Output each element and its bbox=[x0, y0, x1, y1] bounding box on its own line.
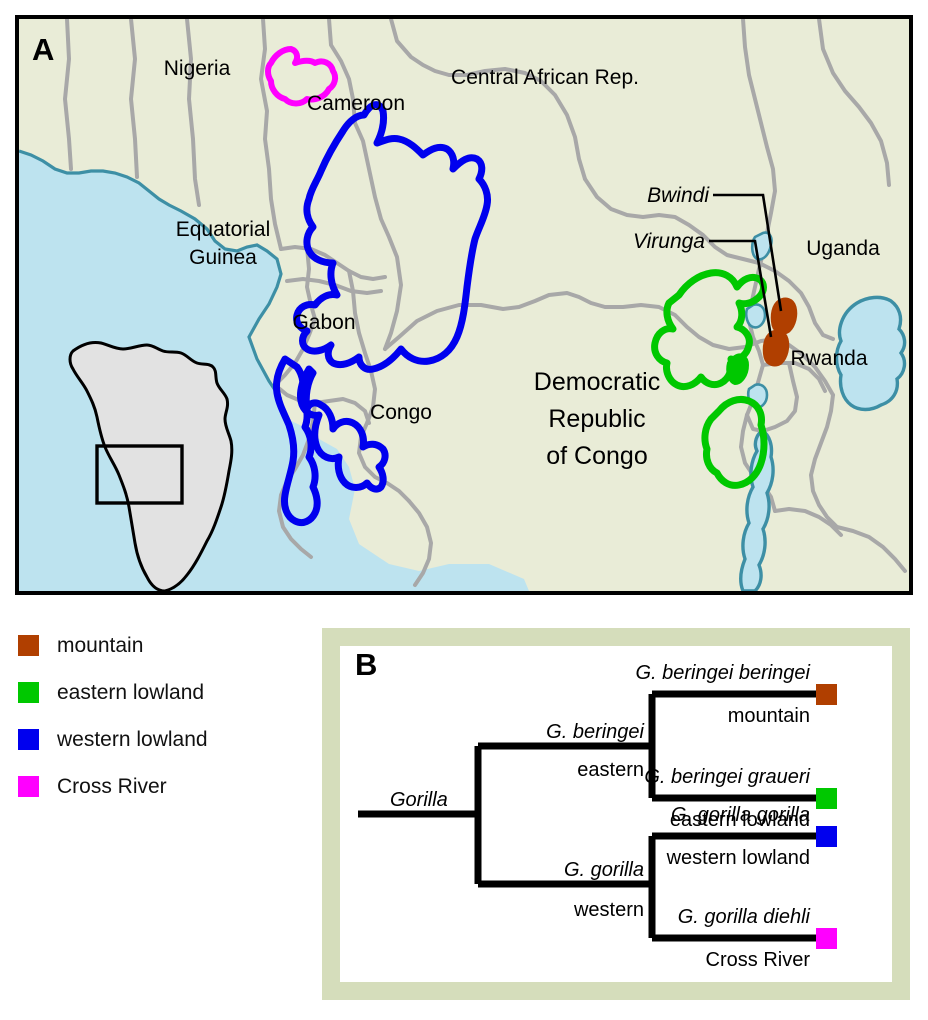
range-legend: mountain eastern lowland western lowland… bbox=[18, 622, 308, 810]
tree-tip-species-gorilla-diehli: G. gorilla diehli bbox=[678, 906, 811, 928]
tree-tip-species-beringei-beringei: G. beringei beringei bbox=[635, 662, 810, 684]
label-cameroon: Cameroon bbox=[307, 92, 405, 115]
label-gabon: Gabon bbox=[292, 311, 355, 334]
label-drc-line1: Democratic bbox=[534, 368, 660, 396]
label-equatorial-guinea-line1: Equatorial bbox=[176, 218, 271, 241]
legend-item-eastern-lowland: eastern lowland bbox=[18, 669, 308, 716]
legend-label-mountain: mountain bbox=[57, 635, 143, 656]
tree-label-g-beringei: G. beringei bbox=[546, 721, 644, 743]
tree-label-eastern: eastern bbox=[577, 759, 644, 781]
tip-swatch-cross-river bbox=[816, 928, 837, 949]
legend-swatch-western-lowland bbox=[18, 729, 39, 750]
map-panel-a: Nigeria Cameroon Central African Rep. Eq… bbox=[15, 15, 913, 595]
label-equatorial-guinea-line2: Guinea bbox=[189, 246, 257, 269]
tree-tip-species-gorilla-gorilla: G. gorilla gorilla bbox=[671, 804, 810, 826]
label-rwanda: Rwanda bbox=[790, 347, 867, 370]
label-drc-line3: of Congo bbox=[546, 442, 647, 470]
label-bwindi: Bwindi bbox=[647, 184, 710, 207]
tree-panel-b: Gorilla G. beringei eastern G. gorilla w… bbox=[322, 628, 910, 1000]
legend-swatch-mountain bbox=[18, 635, 39, 656]
panel-b-letter: B bbox=[355, 647, 377, 683]
tip-swatch-eastern-lowland bbox=[816, 788, 837, 809]
tip-swatch-mountain bbox=[816, 684, 837, 705]
range-eastern-lowland-small bbox=[728, 355, 747, 383]
range-mountain-virunga bbox=[764, 331, 788, 365]
tip-swatch-western-lowland bbox=[816, 826, 837, 847]
lake-edward bbox=[746, 304, 765, 327]
tree-tip-common-western-lowland: western lowland bbox=[666, 847, 810, 869]
tree-tip-common-cross-river: Cross River bbox=[706, 949, 811, 971]
map-svg: Nigeria Cameroon Central African Rep. Eq… bbox=[19, 19, 909, 591]
label-nigeria: Nigeria bbox=[164, 57, 231, 80]
tree-svg: Gorilla G. beringei eastern G. gorilla w… bbox=[340, 646, 892, 982]
legend-item-cross-river: Cross River bbox=[18, 763, 308, 810]
tree-label-g-gorilla: G. gorilla bbox=[564, 859, 644, 881]
tree-label-root: Gorilla bbox=[390, 789, 448, 811]
legend-swatch-cross-river bbox=[18, 776, 39, 797]
legend-label-eastern-lowland: eastern lowland bbox=[57, 682, 204, 703]
legend-item-mountain: mountain bbox=[18, 622, 308, 669]
tree-panel-inner: Gorilla G. beringei eastern G. gorilla w… bbox=[340, 646, 892, 982]
legend-label-western-lowland: western lowland bbox=[57, 729, 208, 750]
label-congo: Congo bbox=[370, 401, 432, 424]
panel-a-letter: A bbox=[32, 32, 54, 68]
range-mountain-bwindi bbox=[772, 299, 796, 333]
label-uganda: Uganda bbox=[806, 237, 880, 260]
label-drc-line2: Republic bbox=[548, 405, 645, 433]
label-car: Central African Rep. bbox=[451, 66, 639, 89]
tree-label-western: western bbox=[573, 899, 644, 921]
tree-tip-species-beringei-graueri: G. beringei graueri bbox=[644, 766, 810, 788]
tree-tip-common-mountain: mountain bbox=[728, 705, 810, 727]
label-virunga: Virunga bbox=[633, 230, 705, 253]
legend-label-cross-river: Cross River bbox=[57, 776, 167, 797]
legend-swatch-eastern-lowland bbox=[18, 682, 39, 703]
legend-item-western-lowland: western lowland bbox=[18, 716, 308, 763]
